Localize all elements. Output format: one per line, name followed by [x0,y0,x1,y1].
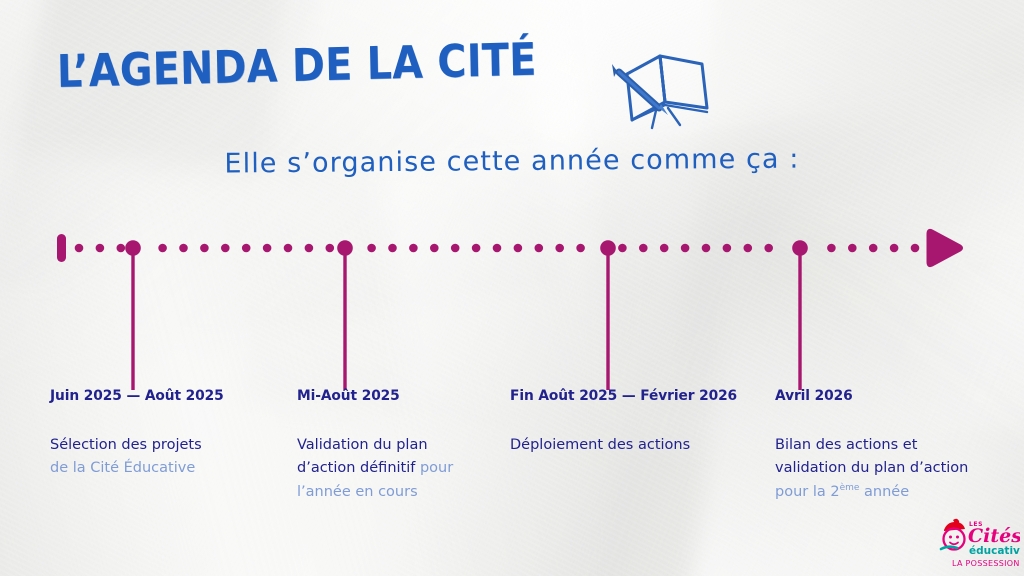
milestone-line-3-superscript: ème [840,483,860,493]
logo-word-cites: Cités [968,525,1020,547]
milestone-date: Mi-Août 2025 [297,388,445,404]
milestone-3[interactable]: Fin Août 2025 — Février 2026 Déploiement… [510,388,749,457]
milestone-description: Déploiement des actions [510,434,749,457]
milestone-line-3-soft-a: pour la 2 [775,484,840,500]
header: L’AGENDA DE LA CITÉ [57,48,718,138]
milestone-line-1: Bilan des actions et [775,437,917,453]
mascot-face-with-red-hat-icon [941,519,965,550]
milestone-4[interactable]: Avril 2026 Bilan des actions et validati… [775,388,968,504]
milestone-description: Validation du plan d’action définitif po… [297,434,453,504]
milestone-line-2-soft: pour [420,460,453,476]
les-cites-educatives-la-possession-logo[interactable]: LES Cités éducatives LA POSSESSION [938,516,1020,570]
logo-city-name: LA POSSESSION [952,559,1020,568]
milestone-date: Fin Août 2025 — Février 2026 [510,388,737,404]
milestone-1[interactable]: Juin 2025 — Août 2025 Sélection des proj… [50,388,233,481]
milestone-line-3-soft-b: année [859,484,909,500]
milestone-line-1: Sélection des projets [50,437,202,453]
milestone-line-2-soft: de la Cité Éducative [50,460,195,476]
logo-word-educatives: éducatives [969,545,1020,557]
slide-canvas: L’AGENDA DE LA CITÉ [0,0,1024,576]
milestone-line-2: d’action définitif [297,460,415,476]
page-title: L’AGENDA DE LA CITÉ [57,36,538,96]
milestone-line-1: Validation du plan [297,437,428,453]
milestone-line-2: validation du plan d’action [775,460,968,476]
open-book-with-pen-icon [610,42,718,138]
milestone-line-1: Déploiement des actions [510,437,690,453]
milestone-line-3-soft: l’année en cours [297,484,418,500]
milestone-2[interactable]: Mi-Août 2025 Validation du plan d’action… [297,388,453,504]
milestone-date: Juin 2025 — Août 2025 [50,388,224,404]
milestone-description: Bilan des actions et validation du plan … [775,434,968,504]
milestone-description: Sélection des projets de la Cité Éducati… [50,434,233,481]
milestone-date: Avril 2026 [775,388,959,404]
